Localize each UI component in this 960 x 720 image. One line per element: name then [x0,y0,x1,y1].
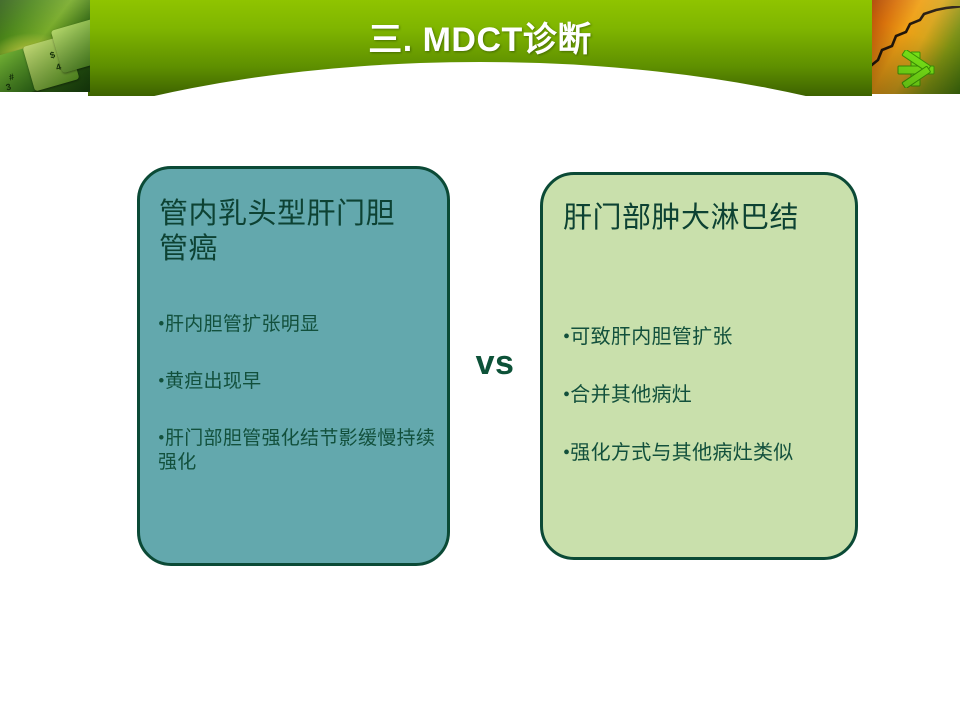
page-title: 三. MDCT诊断 [88,12,872,61]
list-item: •可致肝内胆管扩张 [563,325,851,350]
left-box-title: 管内乳头型肝门胆管癌 [159,197,421,268]
slide-canvas: # 3 $ 4 三. MDCT诊断 管内乳头型肝门胆管癌 [0,0,960,720]
comparison-box-left[interactable]: 管内乳头型肝门胆管癌 •肝内胆管扩张明显 •黄疸出现早 •肝门部胆管强化结节影缓… [137,166,450,566]
header-right-chart-image [872,0,960,94]
left-box-bullets: •肝内胆管扩张明显 •黄疸出现早 •肝门部胆管强化结节影缓慢持续强化 [158,313,443,475]
right-box-bullets: •可致肝内胆管扩张 •合并其他病灶 •强化方式与其他病灶类似 [563,325,851,467]
right-image-shading [872,0,960,94]
left-image-shading [0,0,90,92]
list-item: •肝门部胆管强化结节影缓慢持续强化 [158,427,443,475]
list-item: •黄疸出现早 [158,370,443,394]
list-item: •合并其他病灶 [563,383,851,408]
header-left-keyboard-image: # 3 $ 4 [0,0,90,92]
right-box-title: 肝门部肿大淋巴结 [563,201,831,236]
slide-header: # 3 $ 4 三. MDCT诊断 [0,0,960,96]
list-item: •肝内胆管扩张明显 [158,313,443,337]
comparison-box-right[interactable]: 肝门部肿大淋巴结 •可致肝内胆管扩张 •合并其他病灶 •强化方式与其他病灶类似 [540,172,858,560]
versus-label: vs [452,344,538,383]
list-item: •强化方式与其他病灶类似 [563,441,851,466]
